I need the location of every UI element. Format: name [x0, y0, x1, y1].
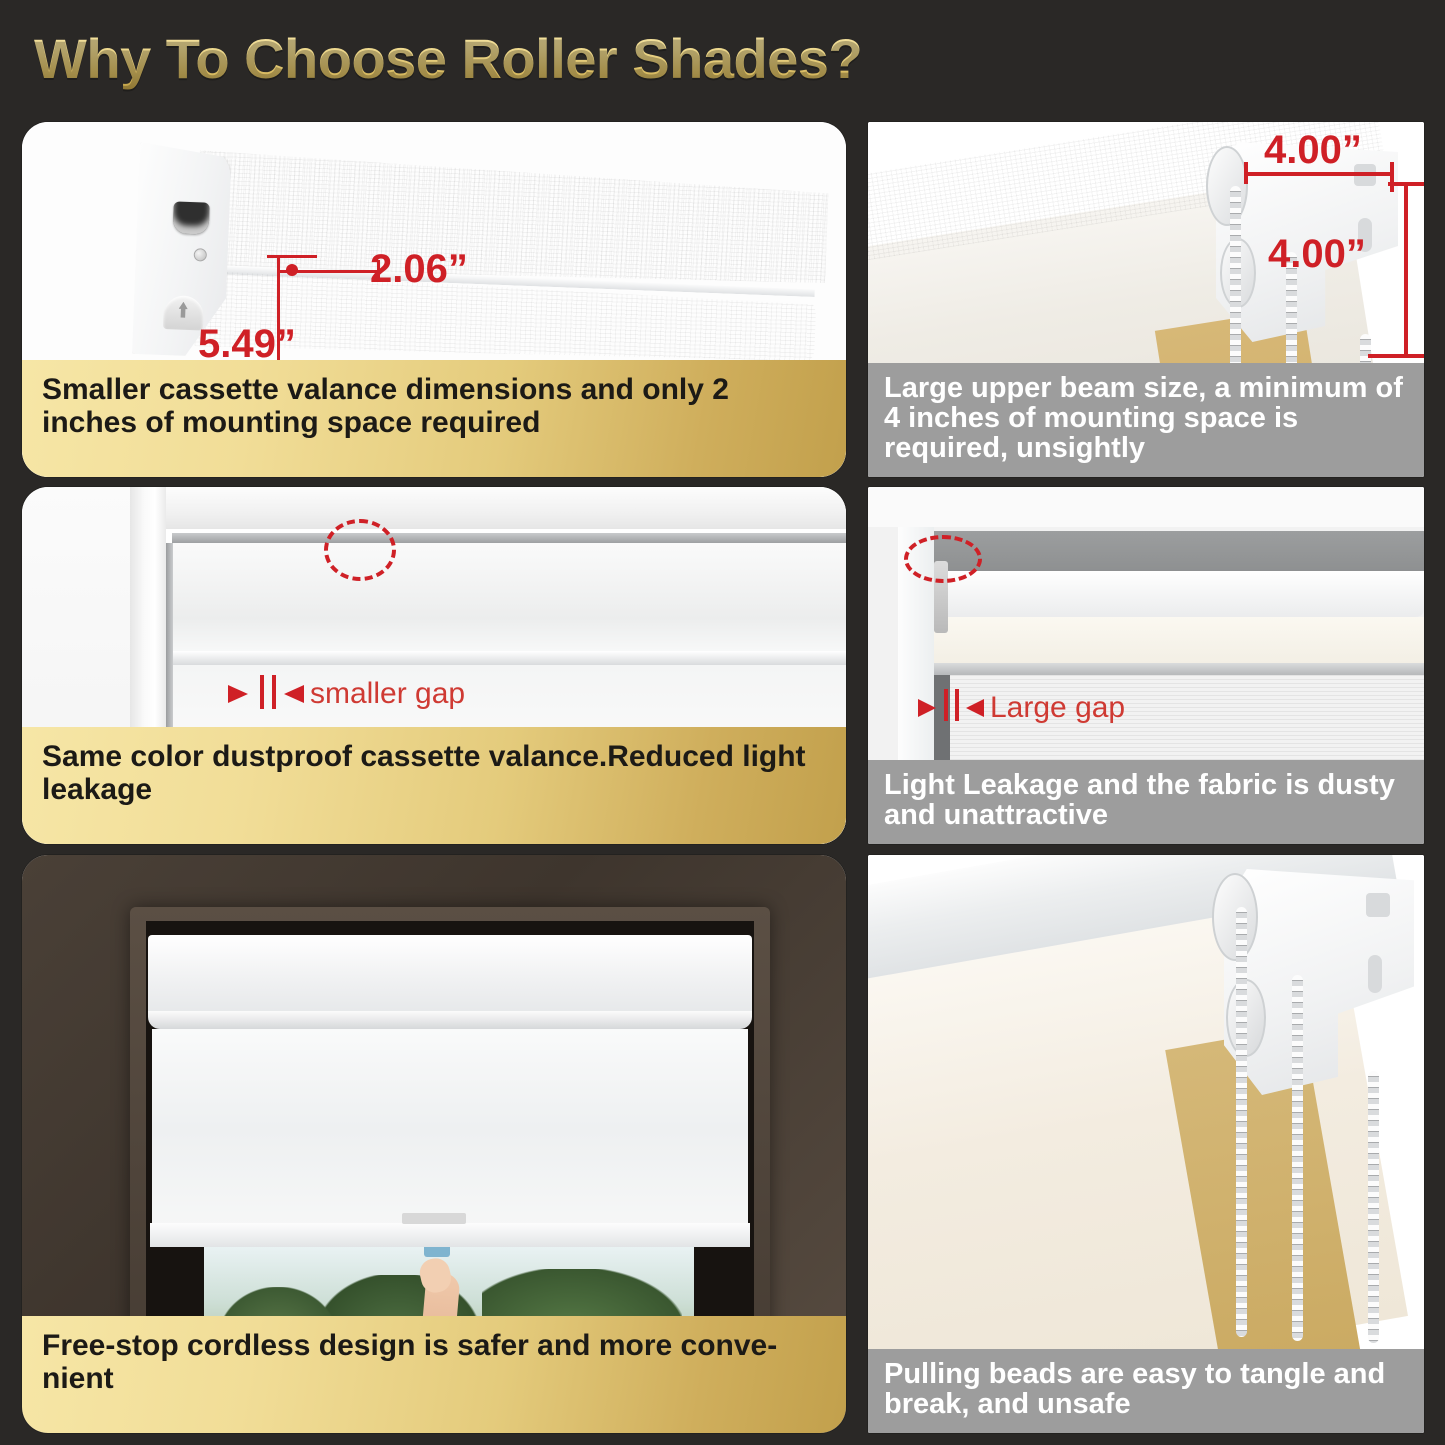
dimension-label-width: 4.00” [1264, 128, 1362, 173]
comparison-grid: 5.49” 2.06” Smaller cassette valance dim… [0, 110, 1445, 1445]
infographic-page: Why To Choose Roller Shades? 5. [0, 0, 1445, 1445]
bead-chain [1292, 975, 1303, 1341]
gap-arrow-left [918, 699, 936, 717]
page-title: Why To Choose Roller Shades? [34, 26, 862, 91]
brand-label [402, 1213, 466, 1224]
mount-slot-icon-2 [1368, 955, 1382, 993]
bottom-rail [150, 1223, 750, 1247]
panel-pulling-beads: Pulling beads are easy to tangle and bre… [868, 855, 1424, 1433]
gap-arrow-right [284, 685, 304, 703]
panel-1-caption: Smaller cassette valance dimensions and … [22, 360, 846, 477]
highlight-circle [904, 535, 982, 583]
gap-arrow-left [228, 685, 248, 703]
panel-3-caption: Same color dustproof cassette valance.Re… [22, 727, 846, 844]
gap-arrow-right [966, 699, 984, 717]
panel-dustproof-valance: smaller gap Same color dustproof cassett… [22, 487, 846, 844]
screw-icon [194, 248, 207, 261]
roller-tube-end [1212, 873, 1258, 961]
panel-large-upper-beam: 4.00” 4.00” Large upper beam size, a min… [868, 122, 1424, 477]
bead-chain [1236, 907, 1247, 1337]
panel-5-caption: Free-stop cordless design is safer and m… [22, 1316, 846, 1433]
panel-2-caption: Large upper beam size, a minimum of 4 in… [868, 363, 1424, 477]
gap-label-large: Large gap [990, 691, 1125, 725]
roller-tube-end [1206, 146, 1248, 226]
panel-6-image [868, 855, 1424, 1433]
gap-label-smaller: smaller gap [310, 677, 465, 711]
panel-4-caption: Light Leakage and the fabric is dusty an… [868, 760, 1424, 844]
panel-6-caption: Pulling beads are easy to tangle and bre… [868, 1349, 1424, 1433]
shade-fabric [152, 1029, 748, 1229]
bracket-slot-icon [173, 201, 210, 234]
panel-cordless-design: Free-stop cordless design is safer and m… [22, 855, 846, 1433]
mount-slot-icon [1366, 893, 1390, 917]
bead-chain [1368, 1071, 1379, 1343]
panel-smaller-cassette: 5.49” 2.06” Smaller cassette valance dim… [22, 122, 846, 477]
panel-light-leakage: Large gap Light Leakage and the fabric i… [868, 487, 1424, 844]
dimension-label-height: 4.00” [1268, 232, 1366, 277]
dimension-label-width: 2.06” [370, 247, 468, 292]
cassette-head [148, 935, 752, 1021]
highlight-circle [324, 519, 396, 581]
